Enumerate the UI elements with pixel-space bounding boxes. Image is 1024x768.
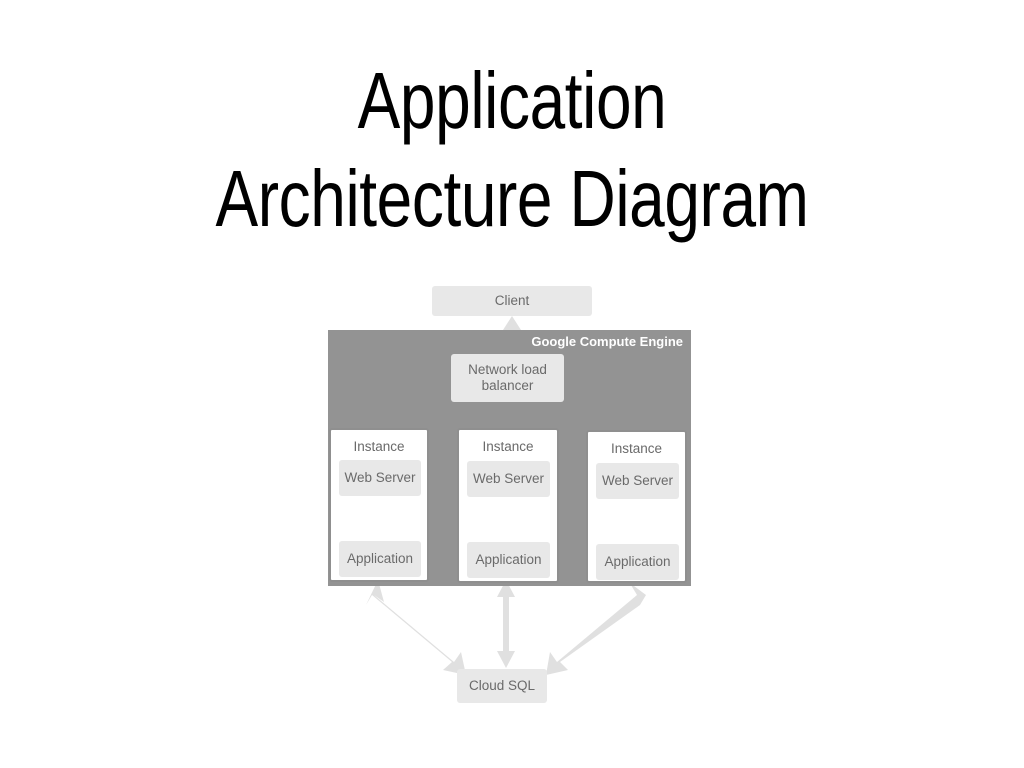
node-application-2[interactable]: Application <box>467 542 550 578</box>
node-cloud-sql-label: Cloud SQL <box>469 678 535 694</box>
node-application-3-label: Application <box>604 554 670 570</box>
arrow-instance2-to-cloudsql <box>497 580 515 668</box>
node-network-load-balancer[interactable]: Network load balancer <box>451 354 564 402</box>
architecture-diagram: Google Compute Engine .arw { fill: #e0e0… <box>0 0 1024 768</box>
node-web-server-2[interactable]: Web Server <box>467 461 550 497</box>
node-application-2-label: Application <box>475 552 541 568</box>
node-cloud-sql[interactable]: Cloud SQL <box>457 669 547 703</box>
node-application-1[interactable]: Application <box>339 541 421 577</box>
node-network-load-balancer-label: Network load balancer <box>468 362 547 394</box>
node-web-server-1-label: Web Server <box>344 470 415 486</box>
instance-label-1: Instance <box>331 439 427 454</box>
node-client[interactable]: Client <box>432 286 592 316</box>
node-client-label: Client <box>495 293 530 309</box>
instance-box-2[interactable]: Instance Web Server Application <box>457 428 559 583</box>
arrow-instance3-to-cloudsql <box>546 580 646 675</box>
node-web-server-3-label: Web Server <box>602 473 673 489</box>
instance-label-2: Instance <box>459 439 557 454</box>
node-web-server-3[interactable]: Web Server <box>596 463 679 499</box>
node-web-server-2-label: Web Server <box>473 471 544 487</box>
node-application-1-label: Application <box>347 551 413 567</box>
instance-label-3: Instance <box>588 441 685 456</box>
node-application-3[interactable]: Application <box>596 544 679 580</box>
instance-box-1[interactable]: Instance Web Server Application <box>329 428 429 582</box>
arrow-instance1-to-cloudsql <box>366 580 466 675</box>
gce-zone-label: Google Compute Engine <box>531 334 683 350</box>
instance-box-3[interactable]: Instance Web Server Application <box>586 430 687 583</box>
node-web-server-1[interactable]: Web Server <box>339 460 421 496</box>
